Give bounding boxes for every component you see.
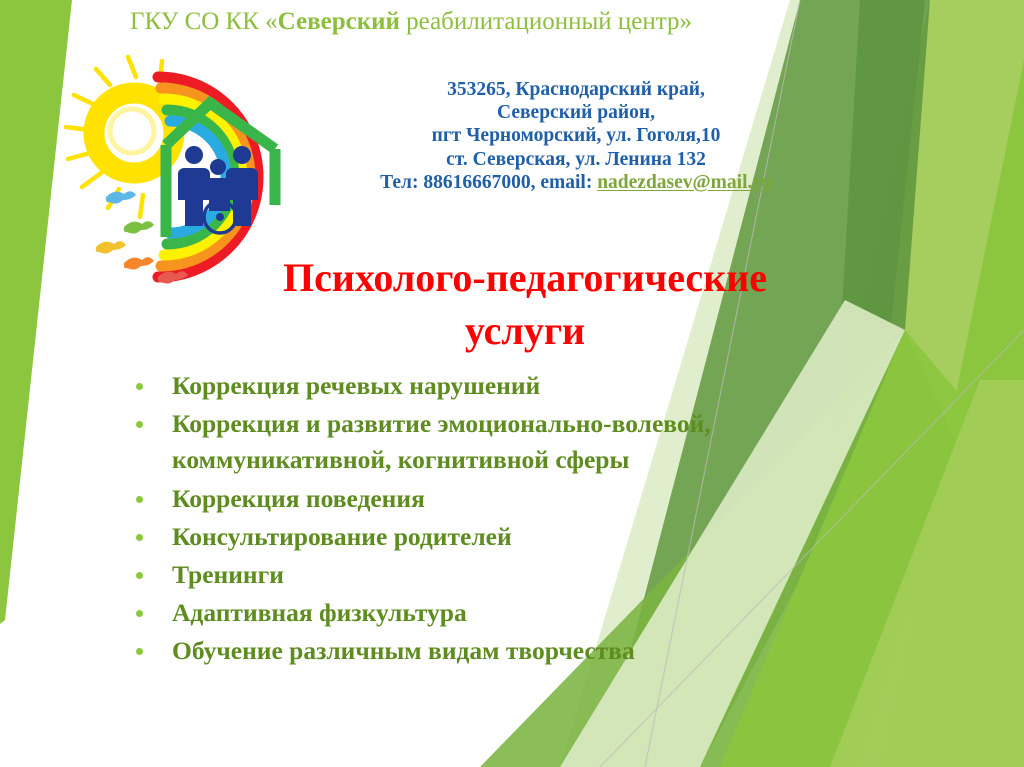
- page-title-line-2: услуги: [228, 305, 822, 358]
- list-item: Коррекция и развитие эмоционально-волево…: [128, 406, 796, 478]
- right-shard-dark-2: [835, 0, 930, 430]
- list-item-label: Коррекция поведения: [172, 484, 425, 513]
- list-item: Коррекция поведения: [128, 481, 796, 517]
- services-list: Коррекция речевых нарушений Коррекция и …: [128, 368, 796, 672]
- bullet-icon: [136, 572, 143, 579]
- list-item-label: Обучение различным видам творчества: [172, 636, 635, 665]
- address-line-4: ст. Северская, ул. Ленина 132: [330, 148, 822, 171]
- bullet-icon: [136, 496, 143, 503]
- sun-inner-ring: [110, 109, 154, 153]
- contact-line: Тел: 88616667000, email: nadezdasev@mail…: [330, 171, 822, 194]
- address-line-3: пгт Черноморский, ул. Гоголя,10: [330, 124, 822, 147]
- list-item: Тренинги: [128, 557, 796, 593]
- phone-email-label: Тел: 88616667000, email:: [380, 172, 597, 193]
- list-item-label: Коррекция и развитие эмоционально-волево…: [172, 409, 711, 474]
- org-header-strong: Северский: [278, 8, 400, 35]
- bird-green: [124, 221, 154, 233]
- page-title-line-1: Психолого-педагогические: [228, 252, 822, 305]
- bird-yellow: [96, 241, 126, 253]
- list-item: Обучение различным видам творчества: [128, 633, 796, 669]
- list-item-label: Адаптивная физкультура: [172, 598, 467, 627]
- wheelchair-hub-icon: [216, 213, 224, 221]
- bullet-icon: [136, 383, 143, 390]
- org-header-suffix: реабилитационный центр»: [400, 8, 692, 35]
- right-shard-lower-lime: [830, 380, 1024, 767]
- bird-blue: [106, 191, 136, 203]
- bullet-icon: [136, 610, 143, 617]
- address-line-2: Северский район,: [330, 101, 822, 124]
- address-line-1: 353265, Краснодарский край,: [330, 78, 822, 101]
- org-header-prefix: ГКУ СО КК «: [130, 8, 278, 35]
- page-title: Психолого-педагогические услуги: [228, 252, 822, 358]
- email-link[interactable]: nadezdasev@mail.ru: [597, 172, 772, 193]
- list-item-label: Коррекция речевых нарушений: [172, 371, 540, 400]
- slide-canvas: ГКУ СО КК «Северский реабилитационный це…: [0, 0, 1024, 767]
- bullet-icon: [136, 648, 143, 655]
- list-item: Консультирование родителей: [128, 519, 796, 555]
- bird-orange: [124, 257, 154, 269]
- bullet-icon: [136, 421, 143, 428]
- list-item: Коррекция речевых нарушений: [128, 368, 796, 404]
- right-shard-bright-2: [880, 60, 1024, 767]
- list-item-label: Тренинги: [172, 560, 284, 589]
- address-block: 353265, Краснодарский край, Северский ра…: [330, 78, 822, 194]
- organization-header: ГКУ СО КК «Северский реабилитационный це…: [130, 8, 820, 36]
- list-item: Адаптивная физкультура: [128, 595, 796, 631]
- bullet-icon: [136, 534, 143, 541]
- list-item-label: Консультирование родителей: [172, 522, 512, 551]
